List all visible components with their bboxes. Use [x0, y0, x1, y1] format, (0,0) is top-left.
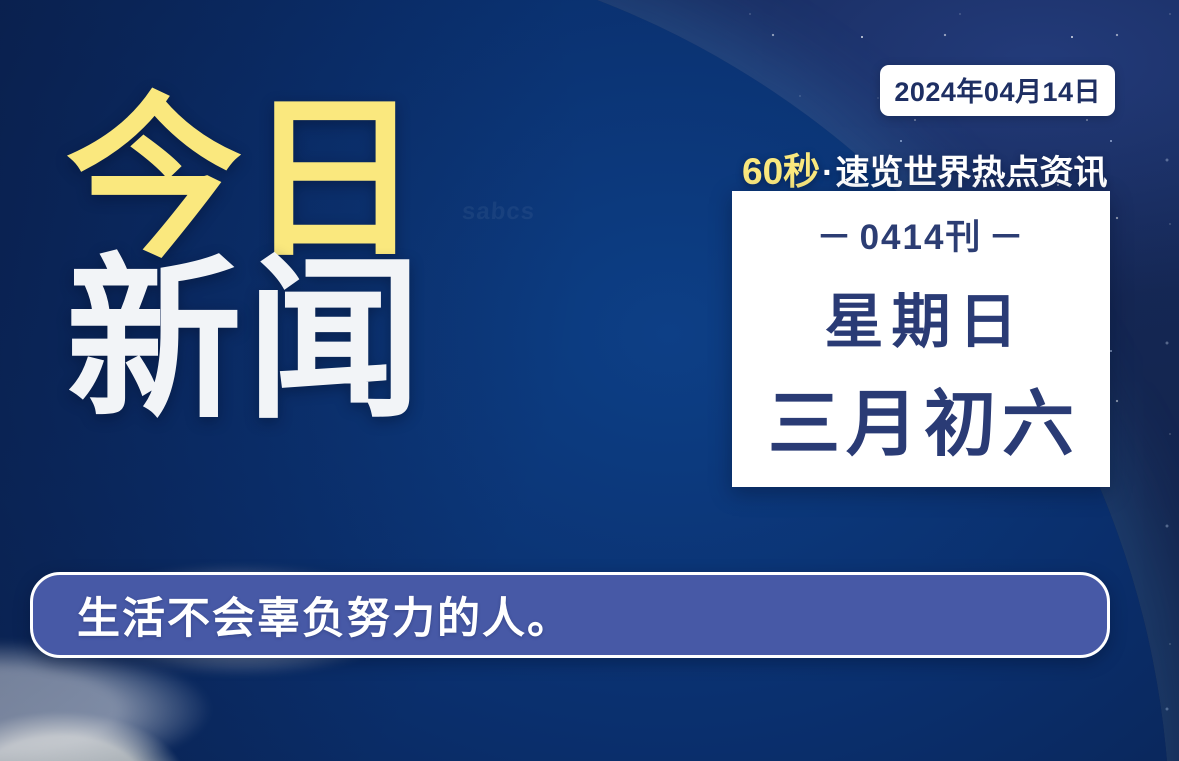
quote-text: 生活不会辜负努力的人。	[77, 584, 572, 646]
issue-number-row: －0414刊－	[811, 209, 1032, 260]
tagline-separator: ·	[820, 154, 835, 192]
weekday-label: 星期日	[816, 274, 1025, 359]
tagline-seconds: 60秒	[742, 151, 820, 192]
page-title-line-2: 新闻	[66, 257, 426, 424]
issue-number: 0414刊	[860, 218, 983, 257]
quote-bar: 生活不会辜负努力的人。	[30, 572, 1110, 658]
page-title: 今日 新闻	[66, 96, 426, 424]
date-info-card: －0414刊－ 星期日 三月初六	[732, 191, 1110, 487]
news-poster: sabcs 今日 新闻 2024年04月14日 60秒·速览世界热点资讯 －04…	[0, 0, 1179, 761]
tagline-text: 速览世界热点资讯	[835, 154, 1107, 192]
date-badge: 2024年04月14日	[880, 65, 1115, 116]
issue-dash-left: －	[811, 218, 860, 257]
tagline: 60秒·速览世界热点资讯	[742, 141, 1107, 195]
issue-dash-right: －	[982, 218, 1031, 257]
lunar-date-label: 三月初六	[762, 365, 1080, 470]
site-watermark: sabcs	[461, 198, 536, 226]
